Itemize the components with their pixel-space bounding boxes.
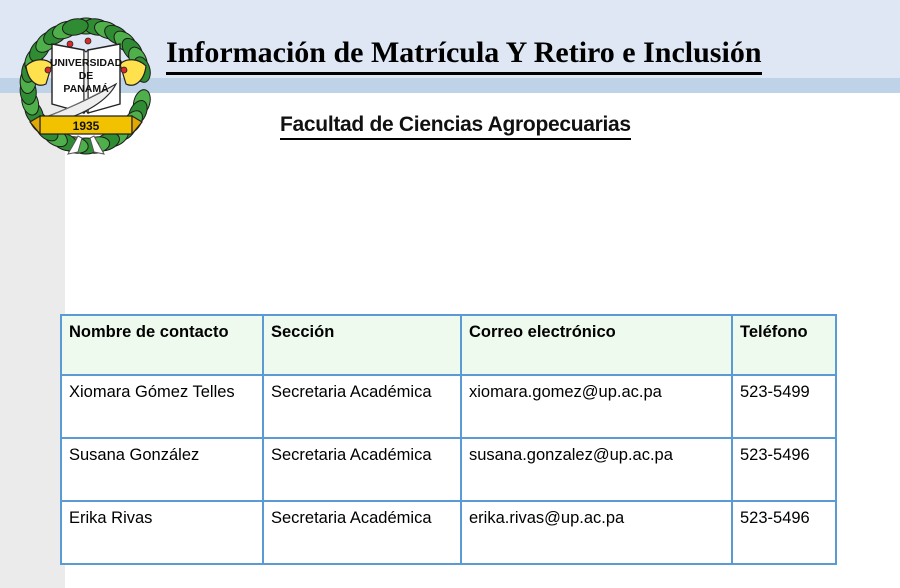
university-seal-icon: 1935 UNIVERSIDAD DE PANAMÁ (12, 8, 160, 156)
seal-book-line-3: PANAMÁ (63, 82, 109, 95)
column-header-telefono: Teléfono (732, 315, 836, 375)
contacts-table: Nombre de contacto Sección Correo electr… (60, 314, 837, 565)
cell-seccion: Secretaria Académica (263, 501, 461, 564)
berry-right (85, 38, 91, 44)
seal-book-line-2: DE (79, 70, 94, 82)
table-row: Susana González Secretaria Académica sus… (61, 438, 836, 501)
page-title: Información de Matrícula Y Retiro e Incl… (166, 36, 762, 75)
cell-seccion: Secretaria Académica (263, 375, 461, 438)
cell-correo: xiomara.gomez@up.ac.pa (461, 375, 732, 438)
table-row: Erika Rivas Secretaria Académica erika.r… (61, 501, 836, 564)
column-header-correo: Correo electrónico (461, 315, 732, 375)
year-banner: 1935 (30, 116, 142, 134)
university-seal: 1935 UNIVERSIDAD DE PANAMÁ (12, 8, 160, 156)
left-margin-strip (0, 93, 65, 588)
cell-telefono: 523-5496 (732, 438, 836, 501)
cell-seccion: Secretaria Académica (263, 438, 461, 501)
cell-nombre: Susana González (61, 438, 263, 501)
faculty-subtitle: Facultad de Ciencias Agropecuarias (280, 112, 631, 140)
column-header-nombre: Nombre de contacto (61, 315, 263, 375)
cell-telefono: 523-5499 (732, 375, 836, 438)
seal-banner-year: 1935 (73, 119, 100, 133)
cell-correo: erika.rivas@up.ac.pa (461, 501, 732, 564)
berry-left (67, 41, 73, 47)
cell-nombre: Xiomara Gómez Telles (61, 375, 263, 438)
cell-nombre: Erika Rivas (61, 501, 263, 564)
column-header-seccion: Sección (263, 315, 461, 375)
table-row: Xiomara Gómez Telles Secretaria Académic… (61, 375, 836, 438)
cell-telefono: 523-5496 (732, 501, 836, 564)
table-header-row: Nombre de contacto Sección Correo electr… (61, 315, 836, 375)
seal-book-line-1: UNIVERSIDAD (50, 57, 123, 69)
cell-correo: susana.gonzalez@up.ac.pa (461, 438, 732, 501)
